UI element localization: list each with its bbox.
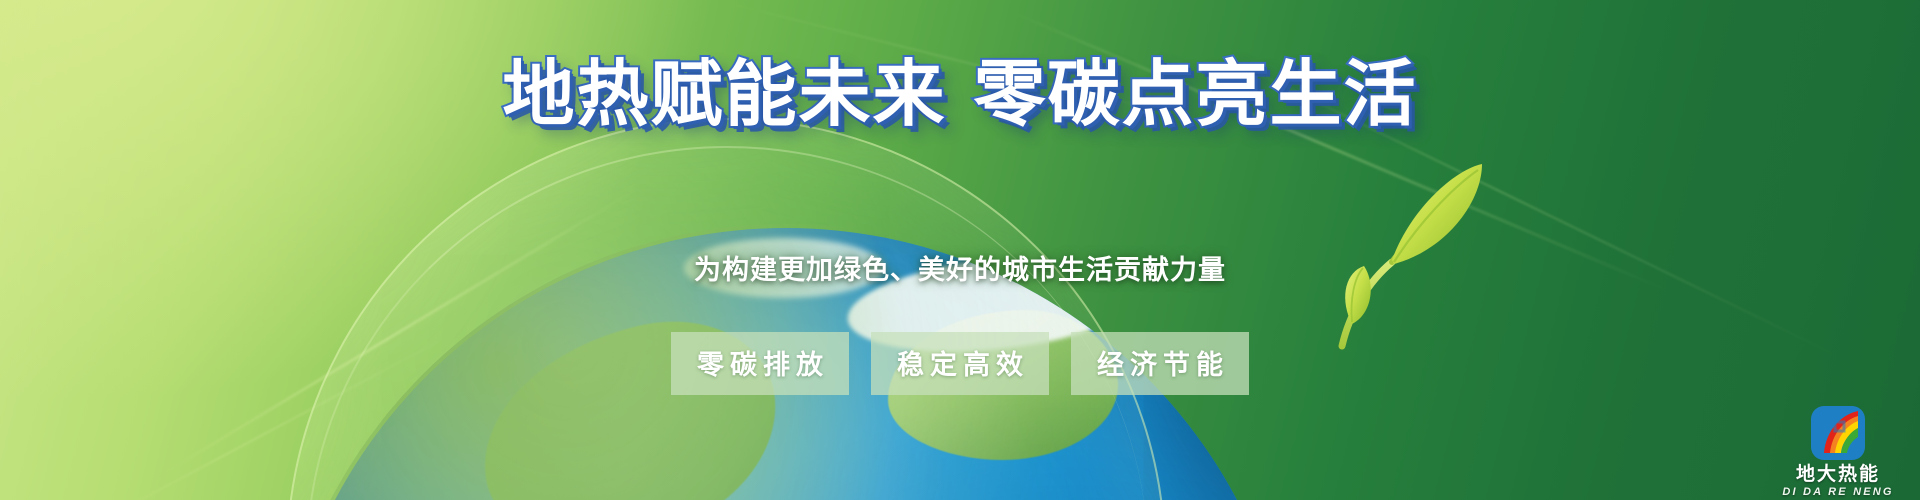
page-subtitle: 为构建更加绿色、美好的城市生活贡献力量 <box>0 248 1920 287</box>
feature-tag-list: 零碳排放 稳定高效 经济节能 <box>0 332 1920 395</box>
feature-tag-stable-efficient[interactable]: 稳定高效 <box>871 332 1049 395</box>
glass-dome-icon <box>286 118 1166 500</box>
logo-name-en: DI DA RE NENG <box>1778 486 1898 498</box>
feature-tag-economical-energy-saving[interactable]: 经济节能 <box>1071 332 1249 395</box>
promo-banner: 地热赋能未来 零碳点亮生活 为构建更加绿色、美好的城市生活贡献力量 零碳排放 稳… <box>0 0 1920 500</box>
feature-tag-zero-carbon[interactable]: 零碳排放 <box>671 332 849 395</box>
globe-landmass <box>461 301 798 500</box>
brand-logo[interactable]: 地大热能 DI DA RE NENG <box>1778 405 1898 498</box>
logo-mark-icon <box>1810 405 1866 461</box>
logo-name-cn: 地大热能 <box>1778 464 1898 486</box>
page-title: 地热赋能未来 零碳点亮生活 <box>0 58 1920 130</box>
